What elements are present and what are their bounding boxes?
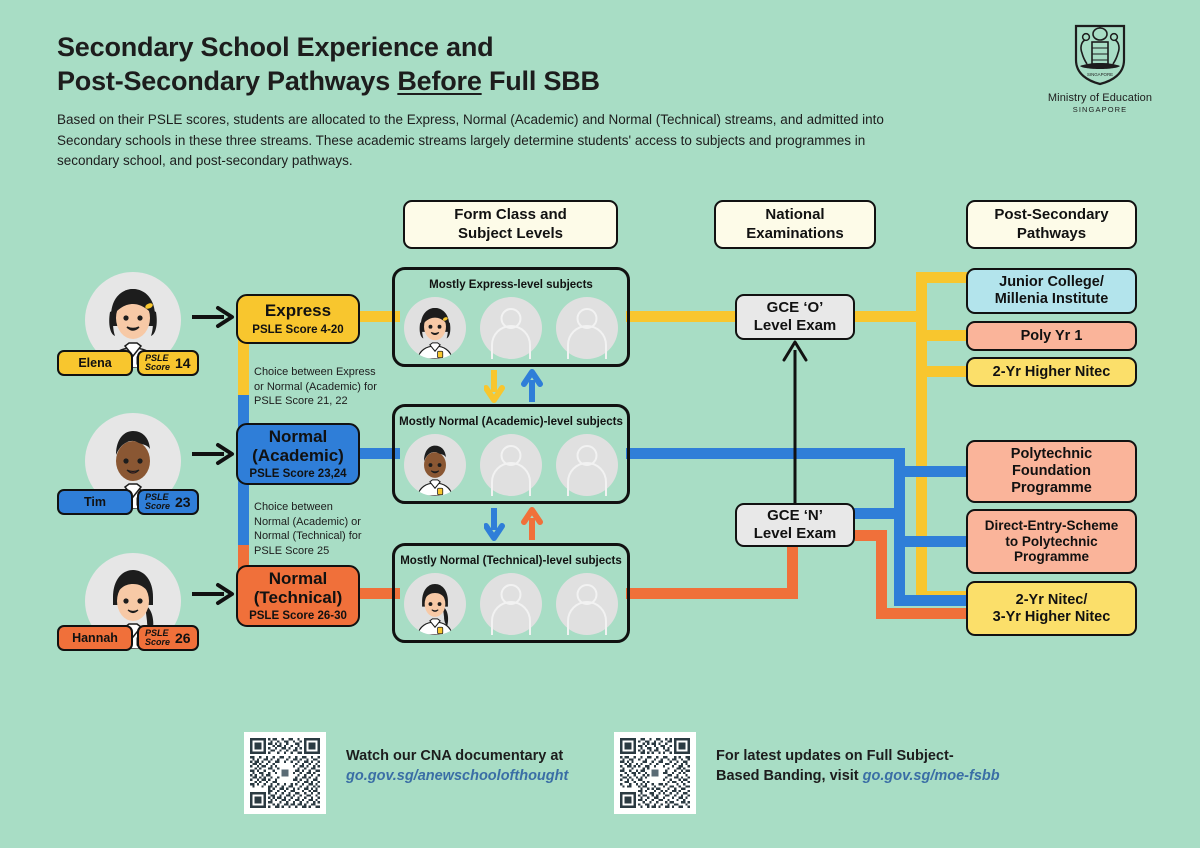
- footer-text-fsbb-line2: Based Banding, visit: [716, 768, 863, 784]
- stream-name-normal-academic: Normal (Academic): [252, 428, 344, 465]
- score-value-tim: 23: [175, 494, 191, 510]
- title-line-1: Secondary School Experience and: [57, 32, 493, 62]
- stream-box-normal-technical[interactable]: Normal (Technical) PSLE Score 26-30: [236, 565, 360, 627]
- line-n-to-deps: [894, 536, 968, 547]
- line-nt-right: [626, 588, 798, 599]
- infographic-canvas: Secondary School Experience and Post-Sec…: [0, 0, 1200, 848]
- subject-avatar-tim: [404, 434, 466, 496]
- line-o-to-jc: [916, 272, 968, 283]
- student-score-hannah: PSLE Score 26: [137, 625, 199, 651]
- line-n-orange-to-nitec: [876, 608, 968, 619]
- exam-box-n-level[interactable]: GCE ‘N’ Level Exam: [735, 503, 855, 547]
- line-o-bus-vertical: [916, 272, 927, 602]
- student-tags-tim: Tim PSLE Score 23: [57, 489, 199, 515]
- line-n-to-pfp: [894, 466, 968, 477]
- stream-score-express: PSLE Score 4-20: [252, 324, 343, 336]
- arrow-express-down-to-na: [484, 368, 548, 404]
- pathway-poly-yr-1[interactable]: Poly Yr 1: [966, 321, 1137, 351]
- qr-code-fsbb-icon[interactable]: [614, 732, 696, 814]
- arrow-na-down-to-nt: [484, 506, 548, 542]
- column-header-form-class: Form Class and Subject Levels: [403, 200, 618, 249]
- subject-caption-normal-academic: Mostly Normal (Academic)-level subjects: [399, 416, 623, 428]
- pathway-junior-college[interactable]: Junior College/ Millenia Institute: [966, 268, 1137, 314]
- subject-box-express[interactable]: Mostly Express-level subjects: [392, 267, 630, 367]
- moe-logo-name: Ministry of Education: [1040, 92, 1160, 104]
- subject-avatar-placeholder: [480, 573, 542, 635]
- title-emphasis-before: Before: [397, 66, 481, 96]
- line-n-to-nitec: [894, 595, 968, 606]
- stream-box-normal-academic[interactable]: Normal (Academic) PSLE Score 23,24: [236, 423, 360, 485]
- footer-text-cna: Watch our CNA documentary at: [346, 746, 568, 766]
- subject-avatar-hannah: [404, 573, 466, 635]
- score-label-tim: PSLE Score: [145, 493, 170, 511]
- stream-score-normal-academic: PSLE Score 23,24: [249, 468, 346, 480]
- arrow-n-level-to-o-level: [778, 336, 812, 506]
- student-tags-elena: Elena PSLE Score 14: [57, 350, 199, 376]
- singapore-crest-icon: SINGAPORE: [1072, 22, 1128, 86]
- pathway-polytechnic-foundation[interactable]: Polytechnic Foundation Programme: [966, 440, 1137, 503]
- column-header-post-secondary: Post-Secondary Pathways: [966, 200, 1137, 249]
- moe-logo: SINGAPORE Ministry of Education SINGAPOR…: [1040, 22, 1160, 114]
- student-score-tim: PSLE Score 23: [137, 489, 199, 515]
- subject-avatar-placeholder: [556, 573, 618, 635]
- subject-box-normal-academic[interactable]: Mostly Normal (Academic)-level subjects: [392, 404, 630, 504]
- pathway-2yr-nitec[interactable]: 2-Yr Nitec/ 3-Yr Higher Nitec: [966, 581, 1137, 636]
- stream-score-normal-technical: PSLE Score 26-30: [249, 610, 347, 622]
- line-n-orange-down: [876, 530, 887, 619]
- student-name-elena: Elena: [57, 350, 133, 376]
- subject-avatar-elena: [404, 297, 466, 359]
- arrow-hannah-to-normal-technical: [190, 577, 238, 611]
- arrow-tim-to-normal-academic: [190, 437, 238, 471]
- footer-item-cna: Watch our CNA documentary at go.gov.sg/a…: [244, 732, 568, 814]
- choice-note-na-nt: Choice between Normal (Academic) or Norm…: [254, 500, 374, 559]
- subject-avatar-placeholder: [480, 297, 542, 359]
- line-express-to-o-level: [626, 311, 736, 322]
- qr-code-cna-icon[interactable]: [244, 732, 326, 814]
- subject-caption-express: Mostly Express-level subjects: [429, 279, 593, 291]
- intro-paragraph: Based on their PSLE scores, students are…: [57, 110, 917, 172]
- column-header-national-exams: National Examinations: [714, 200, 876, 249]
- line-o-to-poly1: [916, 330, 968, 341]
- footer-link-fsbb[interactable]: go.gov.sg/moe-fsbb: [863, 768, 1000, 784]
- score-label-elena: PSLE Score: [145, 354, 170, 372]
- score-label-hannah: PSLE Score: [145, 629, 170, 647]
- subject-avatar-placeholder: [480, 434, 542, 496]
- student-name-tim: Tim: [57, 489, 133, 515]
- subject-avatar-placeholder: [556, 434, 618, 496]
- subject-avatar-placeholder: [556, 297, 618, 359]
- stream-box-express[interactable]: Express PSLE Score 4-20: [236, 294, 360, 344]
- pathway-2yr-higher-nitec[interactable]: 2-Yr Higher Nitec: [966, 357, 1137, 387]
- stream-name-express: Express: [265, 302, 331, 320]
- student-tags-hannah: Hannah PSLE Score 26: [57, 625, 199, 651]
- student-score-elena: PSLE Score 14: [137, 350, 199, 376]
- line-o-to-higher-nitec: [916, 366, 968, 377]
- score-value-elena: 14: [175, 355, 191, 371]
- line-na-right: [626, 448, 905, 459]
- title-line-2-b: Full SBB: [482, 66, 600, 96]
- score-value-hannah: 26: [175, 630, 191, 646]
- footer-item-fsbb: For latest updates on Full Subject- Base…: [614, 732, 1000, 814]
- exam-box-o-level[interactable]: GCE ‘O’ Level Exam: [735, 294, 855, 340]
- choice-note-express-na: Choice between Express or Normal (Academ…: [254, 365, 384, 409]
- student-name-hannah: Hannah: [57, 625, 133, 651]
- subject-box-normal-technical[interactable]: Mostly Normal (Technical)-level subjects: [392, 543, 630, 643]
- title-line-2-a: Post-Secondary Pathways: [57, 66, 397, 96]
- footer-text-fsbb-line1: For latest updates on Full Subject-: [716, 746, 1000, 766]
- svg-text:SINGAPORE: SINGAPORE: [1087, 72, 1113, 77]
- pathway-direct-entry-scheme[interactable]: Direct-Entry-Scheme to Polytechnic Progr…: [966, 509, 1137, 574]
- moe-logo-country: SINGAPORE: [1040, 105, 1160, 114]
- subject-caption-normal-technical: Mostly Normal (Technical)-level subjects: [400, 555, 622, 567]
- stream-name-normal-technical: Normal (Technical): [254, 570, 342, 607]
- footer-link-cna[interactable]: go.gov.sg/anewschoolofthought: [346, 766, 568, 786]
- page-title: Secondary School Experience and Post-Sec…: [57, 30, 697, 98]
- arrow-elena-to-express: [190, 300, 238, 334]
